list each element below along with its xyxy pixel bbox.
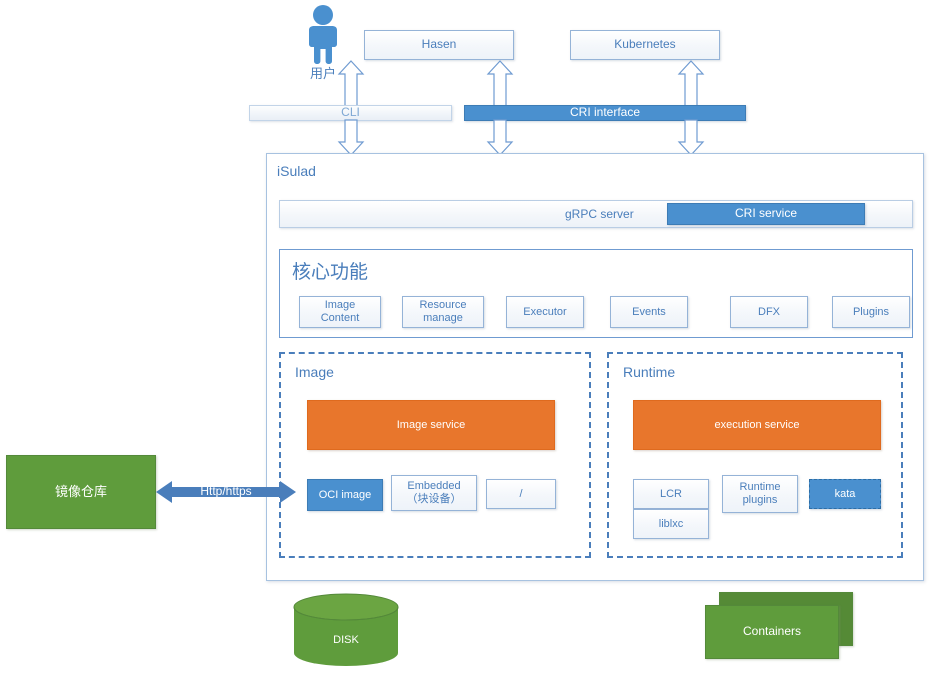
grpc-server-label: gRPC server [565,207,634,221]
liblxc-box[interactable]: liblxc [633,509,709,539]
core-module-executor[interactable]: Executor [506,296,584,328]
kata-box[interactable]: kata [809,479,881,509]
runtime-panel: Runtime execution service LCR liblxc Run… [607,352,903,558]
core-module-image-content[interactable]: Image Content [299,296,381,328]
arrow-down-cli [336,120,366,156]
runtime-panel-title: Runtime [623,364,675,380]
oci-image-box[interactable]: OCI image [307,479,383,511]
cri-service-box[interactable]: CRI service [667,203,865,225]
cri-interface-bar[interactable]: CRI interface [464,105,746,121]
core-function-title: 核心功能 [292,257,368,284]
core-function-panel: 核心功能 Image Content Resource manage Execu… [279,249,913,338]
arrow-up-cli [336,60,366,108]
arrow-up-k8s-cri [676,60,706,108]
arrow-down-hasen-cri [485,120,515,156]
cli-bar[interactable]: CLI [249,105,452,121]
core-module-dfx[interactable]: DFX [730,296,808,328]
isulad-title: iSulad [277,163,316,179]
core-module-resource-manage[interactable]: Resource manage [402,296,484,328]
diagram-canvas: 用户 Hasen Kubernetes CLI CRI interface [0,0,939,673]
user-icon [296,4,350,66]
disk-cylinder [292,593,400,667]
http-https-label: Http/https [170,484,282,500]
disk-label: DISK [292,633,400,647]
embedded-box[interactable]: Embedded （块设备） [391,475,477,511]
execution-service-box[interactable]: execution service [633,400,881,450]
arrow-up-hasen-cri [485,60,515,108]
core-module-plugins[interactable]: Plugins [832,296,910,328]
containers-box[interactable]: Containers [705,605,839,659]
isulad-panel: iSulad gRPC server CRI service 核心功能 Imag… [266,153,924,581]
core-module-events[interactable]: Events [610,296,688,328]
image-panel-title: Image [295,364,334,380]
arrow-down-k8s-cri [676,120,706,156]
image-panel: Image Image service OCI image Embedded （… [279,352,591,558]
hasen-box[interactable]: Hasen [364,30,514,60]
runtime-plugins-box[interactable]: Runtime plugins [722,475,798,513]
image-service-box[interactable]: Image service [307,400,555,450]
root-slash-box[interactable]: / [486,479,556,509]
kubernetes-box[interactable]: Kubernetes [570,30,720,60]
grpc-server-bar[interactable]: gRPC server CRI service [279,200,913,228]
lcr-box[interactable]: LCR [633,479,709,509]
image-registry-box[interactable]: 镜像仓库 [6,455,156,529]
